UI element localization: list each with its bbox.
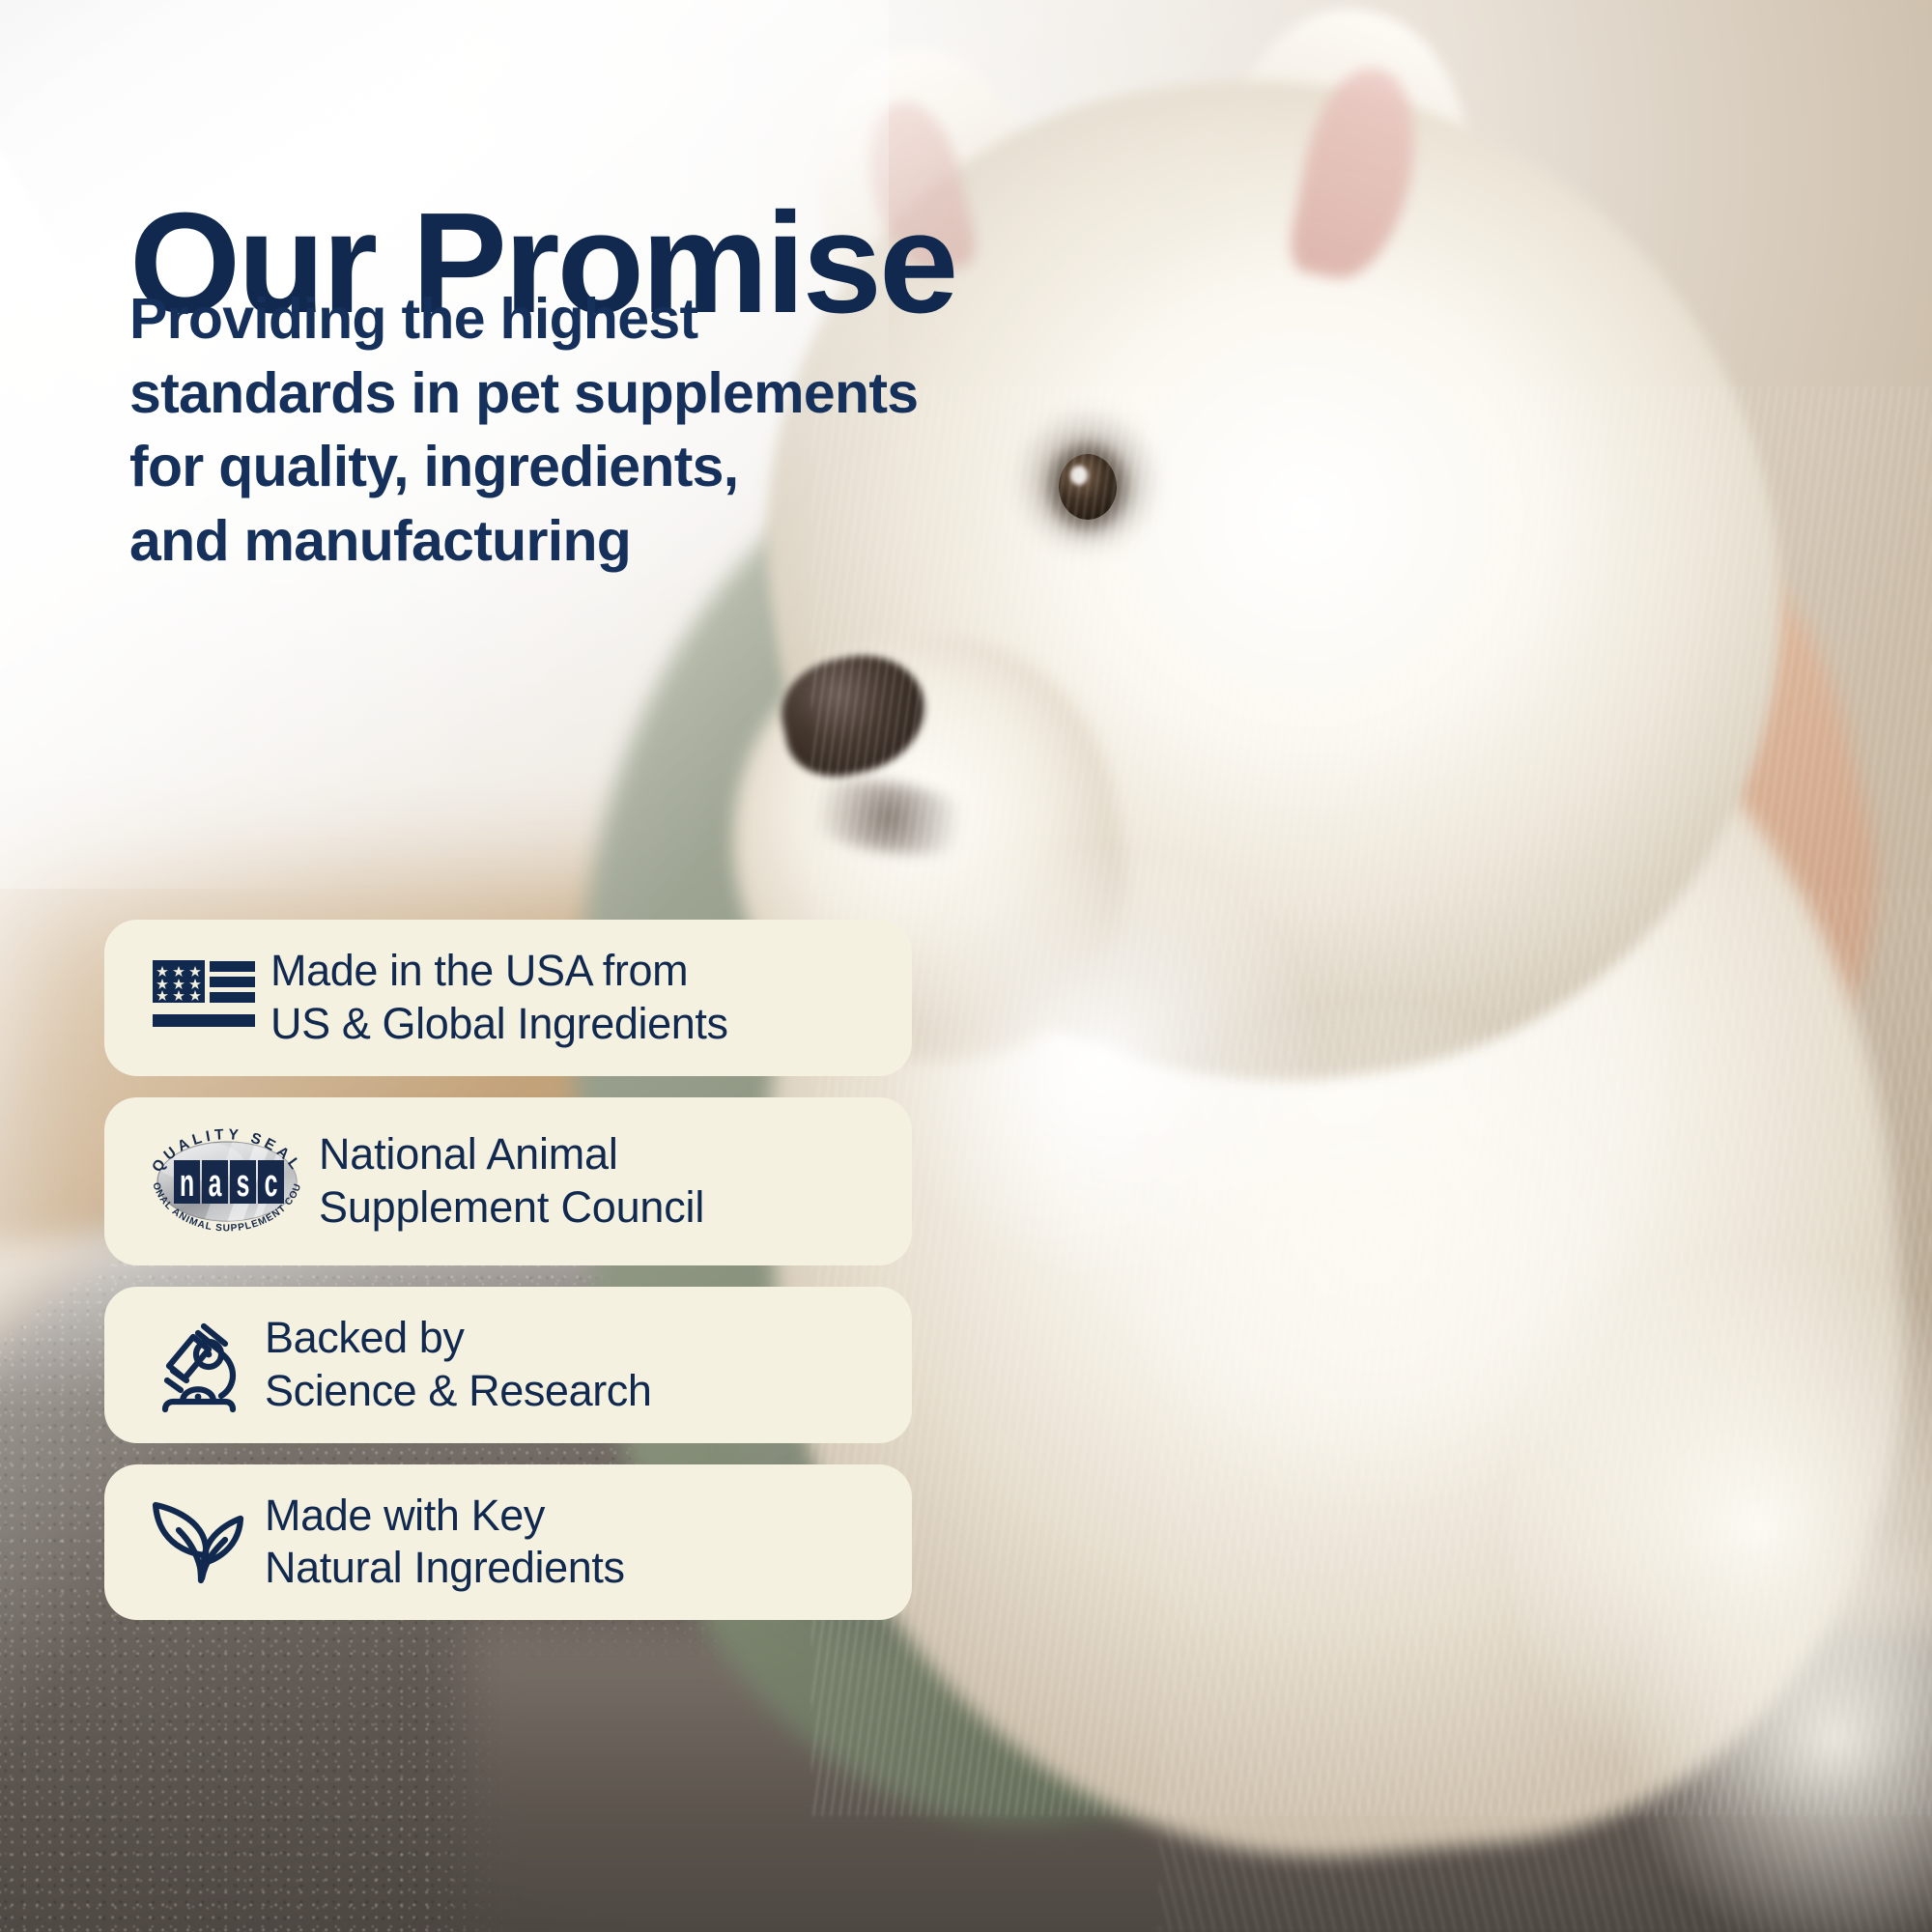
trust-badge-list: Made in the USA from US & Global Ingredi… [104, 920, 916, 1641]
svg-text:s: s [237, 1162, 250, 1205]
badge-label: National Animal Supplement Council [317, 1128, 704, 1235]
leaf-sprout-icon [137, 1495, 259, 1588]
svg-text:c: c [265, 1162, 278, 1205]
badge-backed-by-science: Backed by Science & Research [104, 1287, 912, 1443]
subtitle-line-2: standards in pet supplements [129, 356, 1018, 431]
svg-text:n: n [180, 1162, 194, 1205]
badge-nasc: n a s c QUALITY SEAL NATIONAL ANIMAL SUP… [104, 1097, 912, 1265]
subtitle-line-3: for quality, ingredients, [129, 430, 1018, 504]
badge-label: Made in the USA from US & Global Ingredi… [265, 945, 728, 1051]
badge-label-line-2: US & Global Ingredients [270, 998, 728, 1051]
badge-label-line-1: Made with Key [265, 1490, 625, 1543]
nasc-quality-seal-icon: n a s c QUALITY SEAL NATIONAL ANIMAL SUP… [137, 1115, 317, 1248]
subtitle-line-4: and manufacturing [129, 504, 1018, 579]
badge-label: Made with Key Natural Ingredients [259, 1490, 625, 1596]
usa-flag-icon [143, 960, 265, 1036]
subtitle-line-1: Providing the highest [129, 282, 1018, 356]
badge-label-line-2: Natural Ingredients [265, 1542, 625, 1595]
badge-natural-ingredients: Made with Key Natural Ingredients [104, 1464, 912, 1621]
svg-text:a: a [209, 1162, 222, 1205]
badge-label-line-2: Supplement Council [319, 1181, 704, 1235]
badge-label-line-1: Backed by [265, 1312, 652, 1365]
badge-made-in-usa: Made in the USA from US & Global Ingredi… [104, 920, 912, 1076]
badge-label-line-1: National Animal [319, 1128, 704, 1181]
promise-graphic: Our Promise Providing the highest standa… [0, 0, 1932, 1932]
badge-label: Backed by Science & Research [259, 1312, 652, 1418]
microscope-icon [137, 1315, 259, 1415]
badge-label-line-2: Science & Research [265, 1365, 652, 1418]
badge-label-line-1: Made in the USA from [270, 945, 728, 998]
page-subtitle: Providing the highest standards in pet s… [129, 282, 1018, 579]
